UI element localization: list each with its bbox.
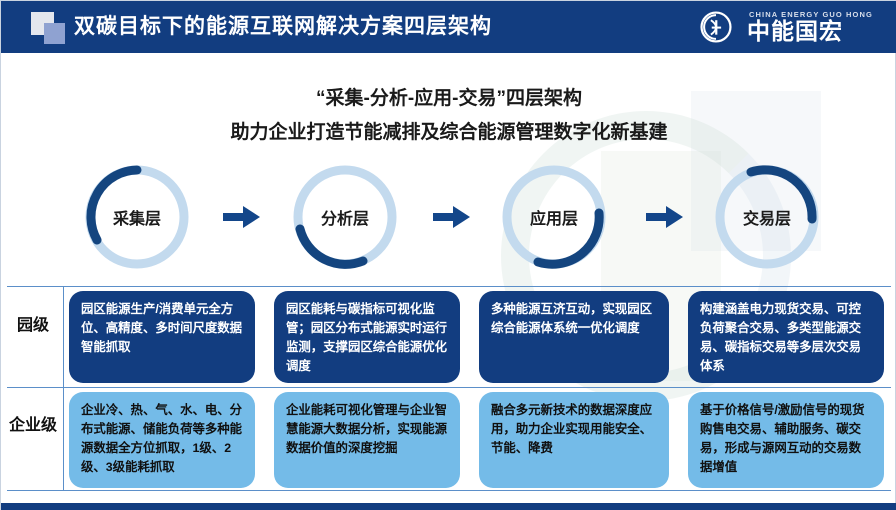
flow-step-analyze[interactable]: 分析层 [289,161,401,273]
row-label-park: 园级 [7,316,59,335]
subtitle-line-2: 助力企业打造节能减排及综合能源管理数字化新基建 [1,117,896,144]
architecture-flow: 采集层 分析层 应用层 [1,161,896,281]
card-park-trade: 构建涵盖电力现货交易、可控负荷聚合交易、多类型能源交易、碳指标交易等多层次交易体… [688,291,884,383]
card-park-analyze: 园区能耗与碳指标可视化监管；园区分布式能源实时运行监测，支撑园区综合能源优化调度 [274,291,460,383]
flow-step-trade[interactable]: 交易层 [711,161,823,273]
flow-step-label: 交易层 [711,161,823,273]
card-enterprise-trade: 基于价格信号/激励信号的现货购售电交易、辅助服务、碳交易，形成与源网互动的交易数… [688,392,884,488]
arrow-right-icon-1 [223,205,261,229]
subtitle-line-1: “采集-分析-应用-交易”四层架构 [1,83,896,110]
slide-canvas: 双碳目标下的能源互联网解决方案四层架构 CHINA ENERGY GUO HON… [0,0,896,510]
card-park-apply: 多种能源互济互动，实现园区综合能源体系统一优化调度 [479,291,669,383]
arrow-right-icon-3 [646,205,684,229]
footer-bar [1,503,896,510]
flow-step-label: 应用层 [498,161,610,273]
logo-mark-icon [699,10,733,44]
header-decor-squares-icon [31,12,77,44]
row-label-enterprise: 企业级 [7,416,59,435]
flow-step-collect[interactable]: 采集层 [81,161,193,273]
matrix-divider-middle [7,387,891,388]
decor-square-blue [44,23,65,44]
page-title: 双碳目标下的能源互联网解决方案四层架构 [74,10,492,44]
flow-step-apply[interactable]: 应用层 [498,161,610,273]
card-enterprise-apply: 融合多元新技术的数据深度应用，助力企业实现用能安全、节能、降费 [479,392,669,488]
header-bar: 双碳目标下的能源互联网解决方案四层架构 CHINA ENERGY GUO HON… [1,1,896,53]
logo-chinese-text: 中能国宏 [747,18,843,44]
matrix-divider-bottom [7,490,891,491]
flow-step-label: 分析层 [289,161,401,273]
card-enterprise-analyze: 企业能耗可视化管理与企业智慧能源大数据分析，实现能源数据价值的深度挖掘 [274,392,460,488]
card-enterprise-collect: 企业冷、热、气、水、电、分布式能源、储能负荷等多种能源数据全方位抓取，1级、2级… [69,392,255,488]
flow-step-label: 采集层 [81,161,193,273]
company-logo: CHINA ENERGY GUO HONG 中能国宏 [693,7,879,47]
card-park-collect: 园区能源生产/消费单元全方位、高精度、多时间尺度数据智能抓取 [69,291,255,383]
matrix-divider-vertical [63,286,64,490]
matrix-divider-top [7,286,891,287]
arrow-right-icon-2 [433,205,471,229]
